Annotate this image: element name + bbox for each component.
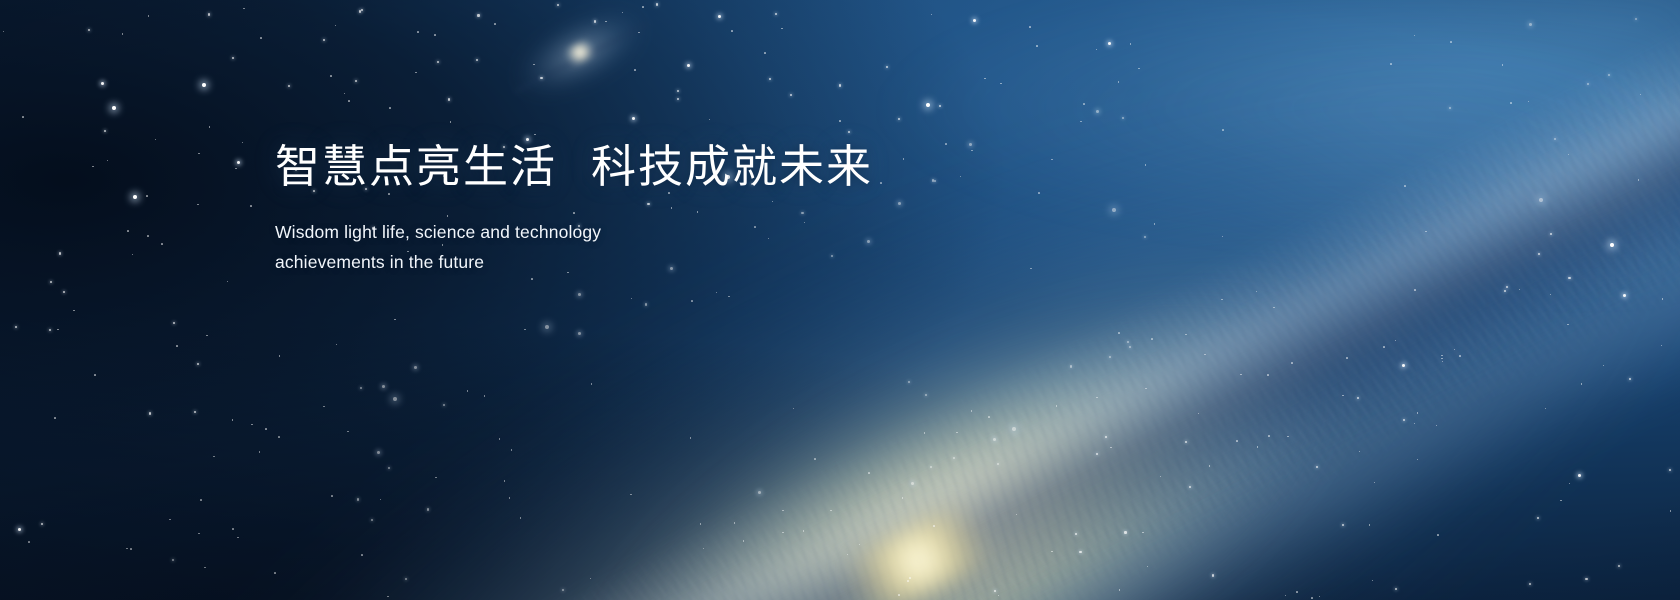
star (557, 4, 559, 6)
star (1560, 500, 1562, 502)
star (28, 541, 30, 543)
star (148, 15, 150, 17)
star (1603, 365, 1605, 367)
star (1036, 45, 1038, 47)
star (630, 494, 632, 496)
star (1145, 388, 1147, 390)
star (775, 13, 777, 15)
star (279, 355, 281, 357)
star (956, 432, 958, 434)
star (1581, 383, 1583, 385)
star (1070, 365, 1072, 367)
star (357, 498, 359, 500)
star (690, 437, 692, 439)
star (414, 366, 417, 369)
star (1311, 597, 1313, 599)
star (758, 491, 761, 494)
star (197, 363, 199, 365)
star (803, 530, 805, 532)
star (434, 34, 436, 36)
star (259, 451, 261, 453)
star (1414, 423, 1416, 425)
star (1635, 18, 1637, 20)
star (1374, 482, 1376, 484)
star (1256, 291, 1258, 293)
star (1669, 469, 1671, 471)
star (59, 252, 61, 254)
star (1578, 474, 1581, 477)
star (731, 30, 733, 32)
star (1257, 446, 1259, 448)
distant-galaxy (483, 0, 678, 133)
star (1346, 357, 1348, 359)
star (578, 293, 581, 296)
star (734, 522, 736, 524)
star (1296, 591, 1298, 593)
star (388, 467, 390, 469)
star (208, 13, 210, 15)
star (1539, 198, 1543, 202)
star (638, 32, 640, 34)
star (902, 497, 904, 499)
star (931, 14, 933, 16)
star (1285, 595, 1287, 597)
star (1083, 103, 1085, 105)
star (443, 404, 445, 406)
star (1222, 129, 1224, 131)
star (1316, 466, 1318, 468)
star (172, 559, 174, 561)
star (534, 134, 536, 136)
star (1383, 346, 1385, 348)
headline: 智慧点亮生活科技成就未来 (275, 138, 1035, 197)
galaxy-dust-lane (65, 40, 1680, 600)
star (1012, 427, 1016, 431)
star (1395, 340, 1397, 342)
star (450, 121, 452, 123)
star (435, 477, 437, 479)
star (1038, 192, 1040, 194)
star (1550, 294, 1552, 296)
star (88, 29, 90, 31)
star (1608, 74, 1610, 76)
star (176, 345, 178, 347)
star (265, 428, 267, 430)
subtitle-line-1: Wisdom light life, science and technolog… (275, 222, 601, 242)
star (49, 329, 51, 331)
star (1395, 588, 1397, 590)
star (243, 8, 245, 10)
star (1051, 159, 1053, 161)
nebula-wisp (0, 0, 1680, 600)
star (509, 497, 511, 499)
sky-upper-right-glow (0, 0, 1680, 600)
star (642, 6, 644, 8)
star (1268, 435, 1270, 437)
galaxy-nucleus (834, 494, 1004, 600)
star (1204, 354, 1206, 356)
star (126, 548, 128, 550)
star (155, 139, 157, 141)
star (907, 580, 909, 582)
star (793, 408, 795, 410)
star (677, 98, 679, 100)
star (520, 517, 522, 519)
star (994, 590, 996, 592)
star (998, 595, 1000, 597)
star (494, 23, 496, 25)
star (335, 25, 337, 27)
star (911, 482, 914, 485)
star (355, 80, 357, 82)
star (1222, 236, 1224, 238)
star (361, 554, 363, 556)
star (540, 77, 542, 79)
star (1414, 35, 1416, 37)
star (1529, 583, 1531, 585)
star (331, 495, 333, 497)
star (1629, 378, 1631, 380)
star (1122, 117, 1124, 119)
star (1510, 102, 1512, 104)
star (1417, 412, 1419, 414)
star (728, 296, 730, 298)
star (359, 10, 361, 12)
star (781, 28, 783, 30)
star (1124, 531, 1126, 533)
subtitle-line-2: achievements in the future (275, 252, 484, 272)
star (1240, 374, 1242, 376)
star (1545, 408, 1547, 410)
star (1000, 83, 1002, 85)
star (146, 195, 148, 197)
star (1402, 364, 1405, 367)
star (1567, 324, 1569, 326)
star (360, 387, 362, 389)
star (591, 383, 593, 385)
star (15, 326, 17, 328)
star (1291, 362, 1293, 364)
star (1151, 338, 1153, 340)
star (716, 292, 718, 294)
star (1372, 580, 1374, 582)
star (405, 578, 407, 580)
distant-galaxy-nucleus (562, 37, 598, 68)
star (73, 310, 75, 312)
star (232, 419, 234, 421)
star (237, 537, 239, 539)
star (204, 567, 206, 569)
star (161, 243, 163, 245)
star (1504, 290, 1506, 292)
hero-banner: 智慧点亮生活科技成就未来 Wisdom light life, science … (0, 0, 1680, 600)
star (101, 82, 104, 85)
star (1016, 514, 1018, 516)
star (1096, 453, 1098, 455)
star (1108, 42, 1111, 45)
star (1144, 236, 1146, 238)
star (22, 116, 24, 118)
star (484, 395, 486, 397)
star (814, 458, 816, 460)
star (1212, 574, 1214, 576)
star (1189, 486, 1191, 488)
star (173, 322, 175, 324)
star (122, 33, 124, 35)
star (1454, 349, 1456, 351)
star (250, 205, 252, 207)
star (898, 594, 900, 596)
star (524, 329, 526, 331)
star (1554, 138, 1556, 140)
galaxy-disk-texture (103, 12, 1680, 600)
star (634, 69, 636, 71)
headline-phrase-1: 智慧点亮生活 (275, 141, 557, 192)
star (631, 298, 633, 300)
star (202, 83, 206, 87)
star (645, 303, 647, 305)
star (782, 510, 784, 512)
star (908, 381, 910, 383)
star (92, 166, 94, 168)
sky-base-gradient (0, 0, 1680, 600)
star (743, 540, 745, 542)
star (1369, 524, 1371, 526)
star (1096, 110, 1099, 113)
star (973, 19, 976, 22)
star (1079, 551, 1081, 553)
vignette-overlay (0, 0, 1680, 600)
galaxy-halo (0, 0, 1680, 600)
star (1502, 64, 1504, 66)
star (133, 195, 137, 199)
star (1119, 589, 1121, 591)
star (371, 519, 373, 521)
star (274, 572, 276, 574)
star (232, 57, 234, 59)
hero-text-block: 智慧点亮生活科技成就未来 Wisdom light life, science … (275, 138, 1035, 277)
star (1154, 223, 1156, 225)
star (1568, 277, 1570, 279)
star (886, 66, 888, 68)
star (1610, 243, 1614, 247)
star (511, 449, 513, 451)
star (1056, 405, 1058, 407)
star (41, 523, 43, 525)
star (1640, 94, 1642, 96)
star (1138, 68, 1140, 70)
star (1273, 307, 1275, 309)
star (54, 417, 56, 419)
star (1319, 596, 1321, 598)
star (578, 332, 581, 335)
star (1506, 286, 1508, 288)
star (1096, 397, 1098, 399)
star (1160, 476, 1162, 478)
star (107, 160, 109, 162)
star (147, 235, 149, 237)
star (1441, 358, 1443, 360)
star (1623, 294, 1626, 297)
star (198, 533, 200, 535)
star (1537, 517, 1539, 519)
star (1587, 83, 1589, 85)
star (700, 523, 702, 525)
star (251, 424, 253, 426)
star (1105, 436, 1107, 438)
star (1568, 154, 1570, 156)
star (1096, 49, 1098, 51)
star (1236, 440, 1238, 442)
star (898, 118, 900, 120)
star (562, 589, 564, 591)
star (1075, 533, 1077, 535)
star (1638, 179, 1640, 181)
star (112, 106, 116, 110)
star (323, 406, 325, 408)
star (1390, 63, 1392, 65)
subtitle: Wisdom light life, science and technolog… (275, 217, 667, 277)
star (382, 385, 385, 388)
star (132, 254, 134, 256)
star (622, 12, 624, 14)
star (1618, 565, 1620, 567)
star (769, 78, 771, 80)
star (504, 480, 506, 482)
star (237, 161, 240, 164)
star (1661, 345, 1663, 347)
star (1538, 253, 1540, 255)
star (278, 436, 280, 438)
star (227, 281, 229, 283)
star (859, 544, 861, 546)
star (1437, 534, 1439, 536)
star (1185, 441, 1187, 443)
star (1029, 26, 1031, 28)
star (997, 463, 999, 465)
star (839, 84, 841, 86)
star (477, 14, 479, 16)
star (925, 394, 927, 396)
star (149, 412, 151, 414)
star (377, 451, 380, 454)
star (348, 100, 350, 102)
galaxy-bright-ridge (70, 0, 1680, 600)
starfield (0, 0, 1680, 600)
headline-phrase-2: 科技成就未来 (591, 141, 873, 192)
star (427, 508, 429, 510)
star (50, 281, 52, 283)
star (18, 528, 21, 531)
star (1147, 566, 1149, 568)
star (993, 438, 996, 441)
star (361, 9, 363, 11)
star (130, 548, 132, 550)
star (232, 528, 234, 530)
star (57, 329, 59, 331)
star (394, 319, 396, 321)
star (590, 578, 592, 580)
star (545, 325, 549, 329)
star (605, 21, 607, 23)
star (1209, 465, 1211, 467)
star (288, 85, 290, 87)
star (1425, 231, 1427, 233)
star (933, 525, 935, 527)
star (1142, 532, 1144, 534)
star (1080, 121, 1082, 123)
star (1127, 341, 1129, 343)
star (1145, 164, 1147, 166)
star (691, 300, 693, 302)
star (703, 548, 705, 550)
star (1442, 361, 1444, 363)
star (347, 431, 349, 433)
star (467, 390, 469, 392)
star (1436, 425, 1438, 427)
star (971, 410, 973, 412)
star (764, 52, 766, 54)
star (868, 472, 870, 474)
star (209, 126, 211, 128)
sky-left-shadow (0, 0, 1680, 600)
star (1585, 578, 1587, 580)
star (790, 94, 792, 96)
star (533, 64, 535, 66)
star (1287, 436, 1289, 438)
star (939, 105, 941, 107)
star (656, 3, 658, 5)
star (847, 554, 849, 556)
star (677, 90, 679, 92)
star (387, 596, 389, 598)
star (63, 291, 65, 293)
star (127, 230, 129, 232)
star (1550, 233, 1552, 235)
star (594, 20, 596, 22)
main-galaxy (0, 0, 1680, 600)
star (389, 107, 391, 109)
star (1198, 413, 1200, 415)
star (1130, 43, 1132, 45)
star (1129, 346, 1131, 348)
star (1417, 459, 1419, 461)
star (930, 466, 932, 468)
star (94, 374, 96, 376)
star (1110, 447, 1112, 449)
star (1662, 298, 1664, 300)
star (437, 61, 439, 63)
star (926, 103, 930, 107)
star (1528, 101, 1530, 103)
star (988, 416, 990, 418)
star (393, 397, 397, 401)
star (1459, 355, 1461, 357)
star (924, 432, 926, 434)
distant-galaxy-halo (483, 0, 678, 133)
star (1118, 332, 1120, 334)
star (1450, 41, 1452, 43)
star (260, 37, 262, 39)
star (476, 59, 478, 61)
star (632, 117, 635, 120)
distant-galaxy-dust-lane (514, 20, 651, 95)
star (1112, 208, 1116, 212)
star (330, 75, 332, 77)
star (1342, 395, 1344, 397)
star (197, 204, 199, 206)
star (336, 344, 338, 346)
